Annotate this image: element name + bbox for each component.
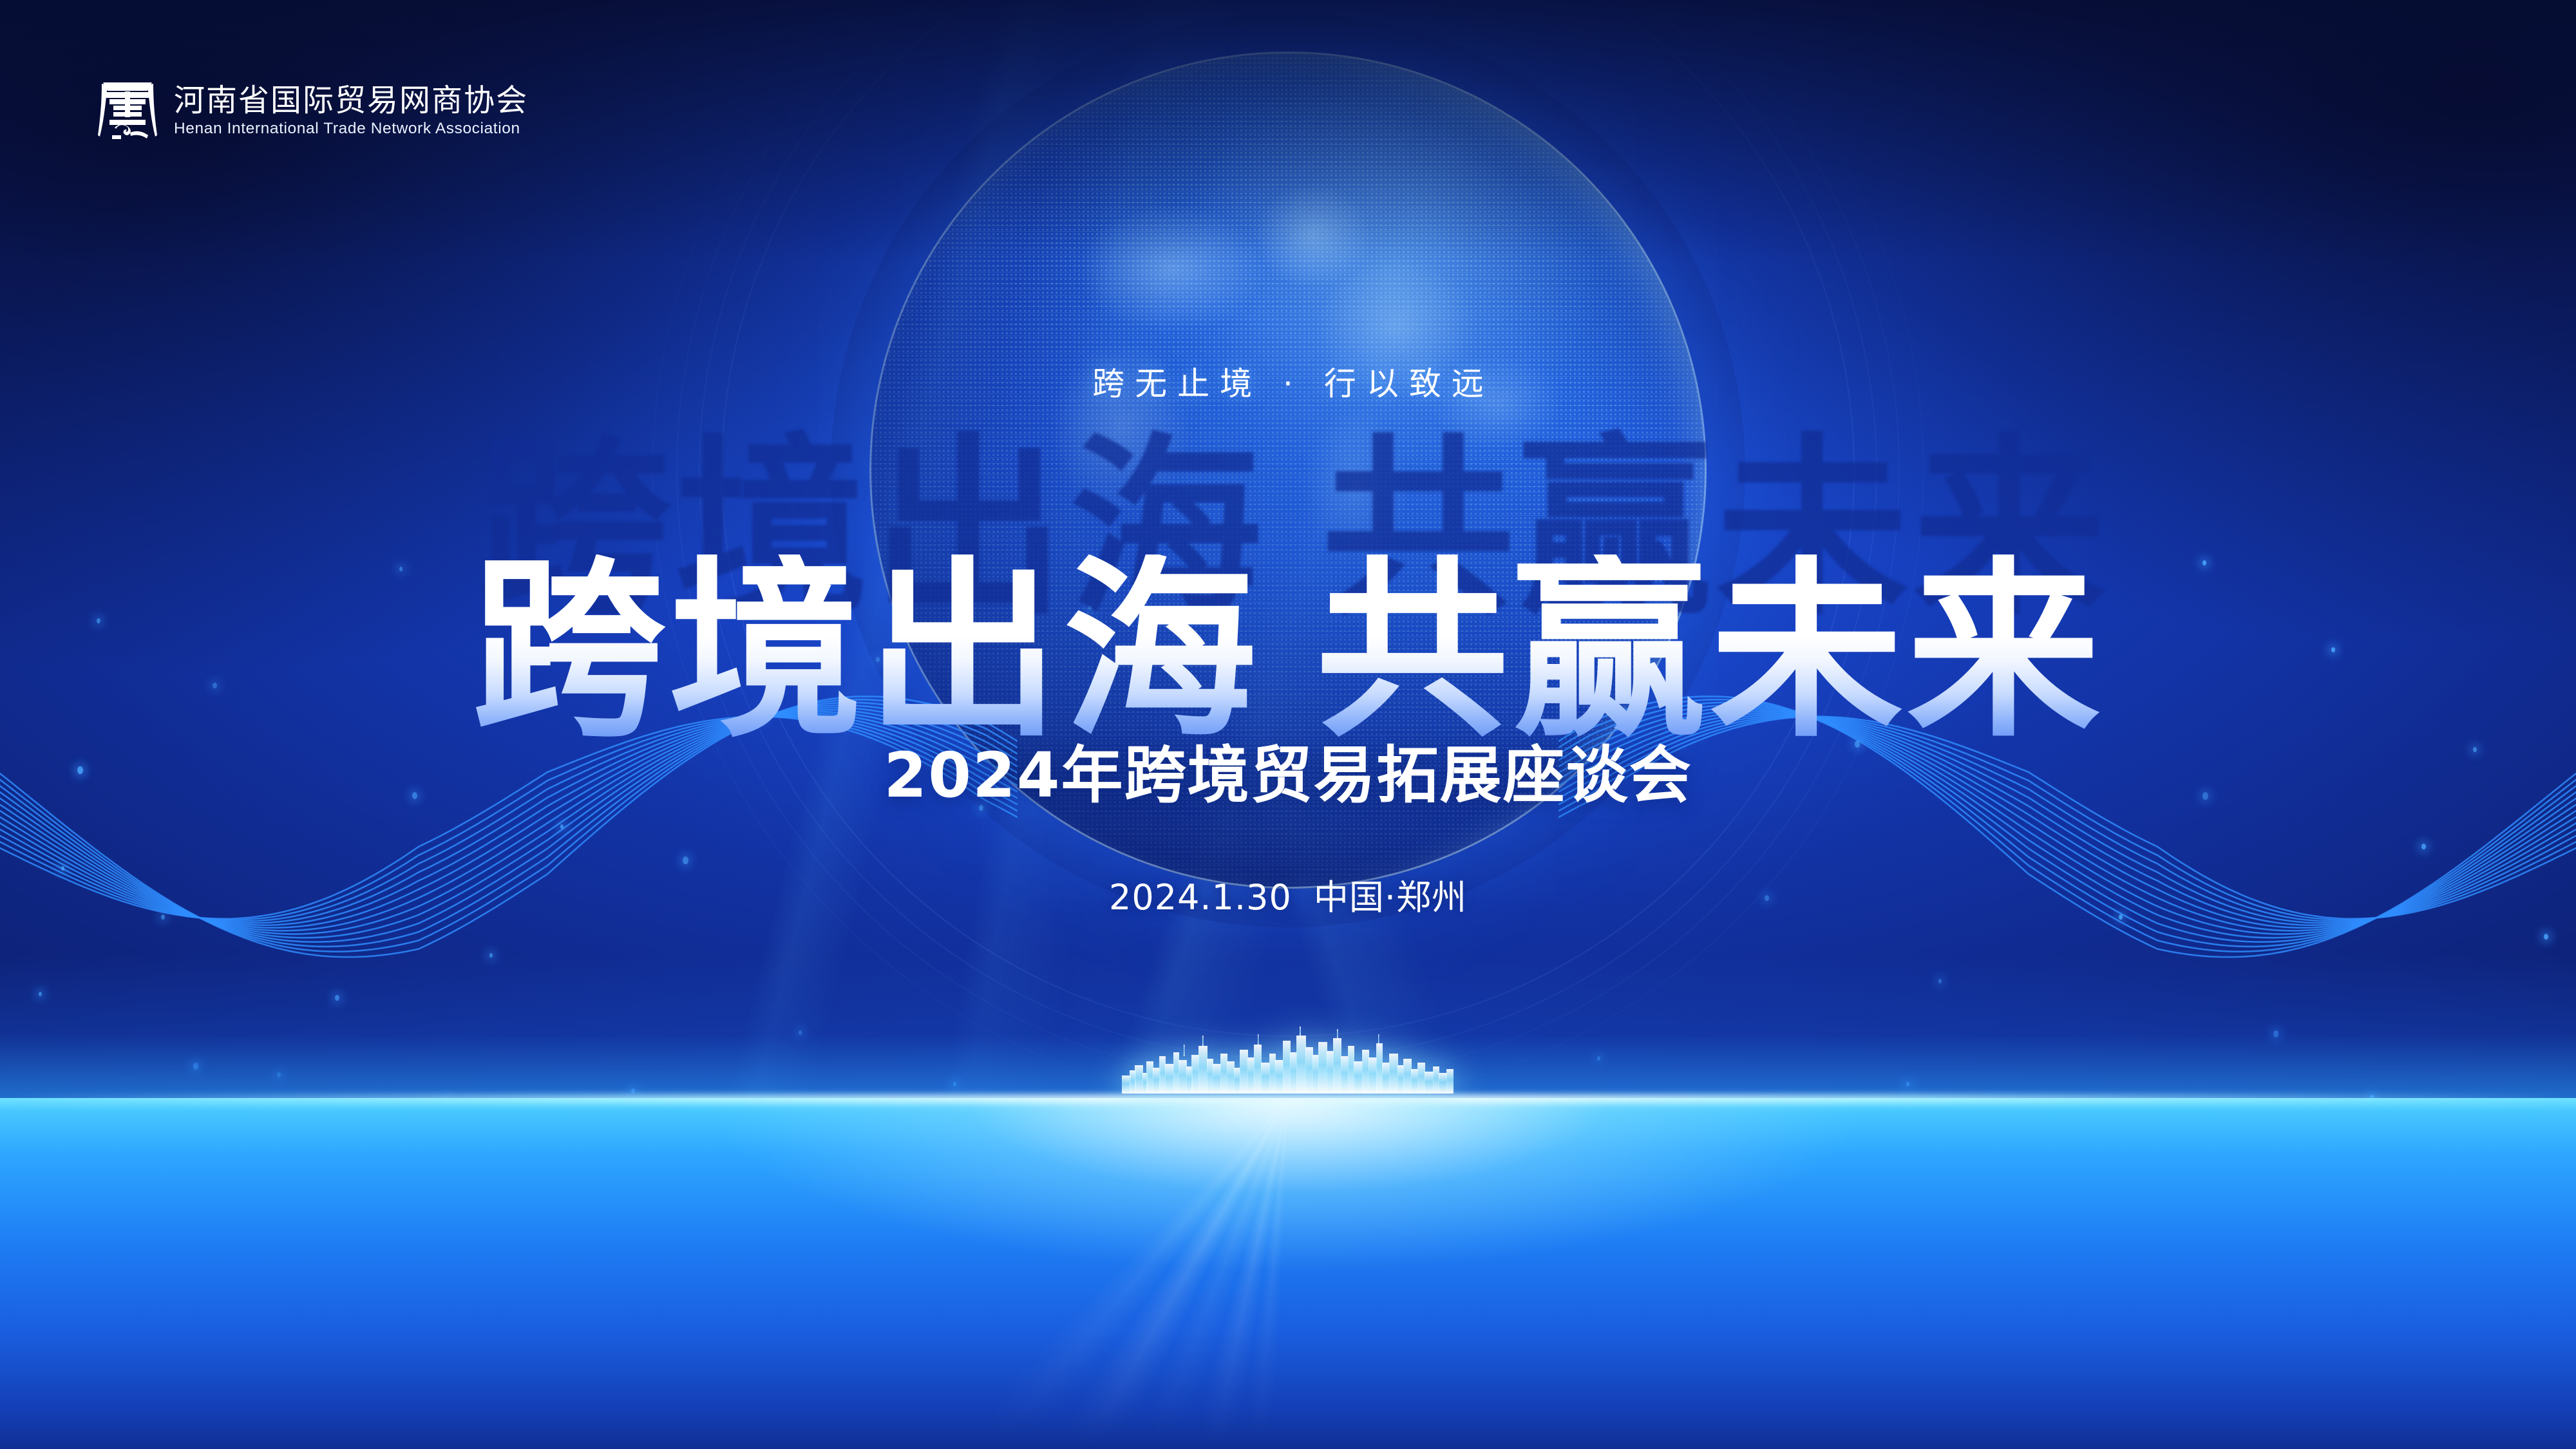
association-logo[interactable]: 河南省国际贸易网商协会 Henan International Trade Ne… [98, 76, 528, 146]
logo-text-block: 河南省国际贸易网商协会 Henan International Trade Ne… [174, 85, 528, 137]
hero-title: 跨境出海共赢未来 [0, 554, 2576, 748]
conference-banner: 河南省国际贸易网商协会 Henan International Trade Ne… [0, 0, 2576, 1449]
hero-subtitle: 2024年跨境贸易拓展座谈会 [0, 739, 2576, 812]
event-meta: 2024.1.30中国·郑州 [0, 877, 2576, 919]
event-location: 中国·郑州 [1314, 877, 1467, 918]
hero-title-part1: 跨境出海 [472, 554, 1260, 748]
hero-title-part2: 共赢未来 [1316, 554, 2104, 748]
association-name-en: Henan International Trade Network Associ… [174, 121, 528, 137]
association-name-cn: 河南省国际贸易网商协会 [174, 85, 528, 116]
henan-seal-mark-icon [98, 76, 157, 146]
hero-tagline: 跨无止境 · 行以致远 [0, 358, 2576, 404]
banner-content: 河南省国际贸易网商协会 Henan International Trade Ne… [0, 0, 2576, 1449]
event-date: 2024.1.30 [1109, 877, 1292, 918]
